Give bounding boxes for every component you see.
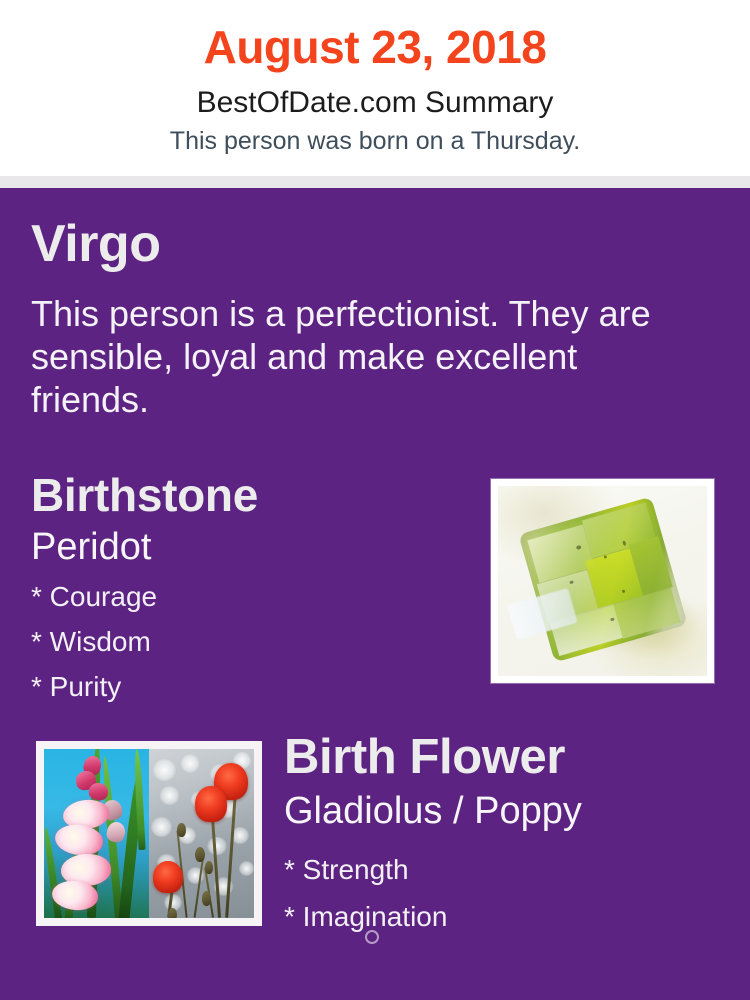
- poppy-bud: [195, 847, 204, 862]
- poppy-bloom: [195, 786, 227, 821]
- bokeh-light: [181, 754, 200, 773]
- gladiolus-photo-half: [44, 749, 149, 918]
- summary-body: Virgo This person is a perfectionist. Th…: [0, 188, 750, 1000]
- bokeh-light: [207, 837, 227, 856]
- bokeh-light: [239, 861, 254, 876]
- gem-inclusion: [603, 555, 607, 559]
- weekday-note: This person was born on a Thursday.: [0, 128, 750, 154]
- birthflower-heading: Birth Flower: [284, 733, 565, 782]
- page-header: August 23, 2018 BestOfDate.com Summary T…: [0, 0, 750, 176]
- poppy-photo-half: [149, 749, 254, 918]
- bokeh-light: [153, 759, 176, 781]
- birthstone-image-frame: [491, 479, 714, 683]
- site-title: BestOfDate.com Summary: [0, 87, 750, 119]
- bokeh-light: [160, 786, 180, 805]
- birthstone-traits-list: * Courage * Wisdom * Purity: [31, 583, 157, 718]
- list-item: * Purity: [31, 673, 157, 701]
- list-item: * Wisdom: [31, 628, 157, 656]
- gem-inclusion: [622, 540, 626, 546]
- poppy-bud: [168, 908, 177, 918]
- birthflower-image-frame: [36, 741, 262, 926]
- gladiolus-poppy-photo: [44, 749, 254, 918]
- birthflower-traits-list: * Strength * Imagination: [284, 856, 447, 950]
- bokeh-light: [151, 817, 172, 837]
- poppy-bud: [202, 891, 211, 906]
- page-title-date: August 23, 2018: [0, 23, 750, 71]
- peridot-gemstone-photo: [498, 486, 707, 676]
- list-item: * Imagination: [284, 903, 447, 931]
- birthflower-name: Gladiolus / Poppy: [284, 792, 582, 830]
- birthstone-heading: Birthstone: [31, 472, 258, 518]
- summary-page: August 23, 2018 BestOfDate.com Summary T…: [0, 0, 750, 1000]
- poppy-stem: [194, 854, 205, 918]
- header-divider: [0, 176, 750, 188]
- zodiac-description: This person is a perfectionist. They are…: [31, 293, 691, 421]
- birthstone-name: Peridot: [31, 528, 151, 566]
- zodiac-sign-name: Virgo: [31, 218, 160, 270]
- poppy-bloom: [153, 861, 182, 893]
- poppy-bud: [177, 823, 185, 837]
- poppy-bud: [205, 861, 213, 875]
- list-item: * Strength: [284, 856, 447, 884]
- list-item: * Courage: [31, 583, 157, 611]
